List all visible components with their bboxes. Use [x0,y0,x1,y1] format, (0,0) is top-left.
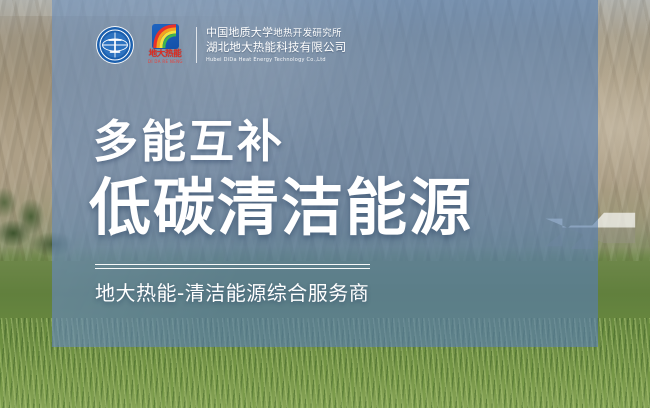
headline-divider-rule [95,264,370,269]
university-seal-icon [95,25,135,65]
headline-primary: 多能互补 [93,118,285,166]
dida-logo-pinyin: DI DA RE NENG [148,59,183,64]
org-line-company-english: Hubei DiDa Heat Energy Technology Co.,Lt… [206,56,346,64]
dida-logo-cn-text: 地大热能 [149,50,182,59]
dida-logo-mark: 地大热能 DI DA RE NENG [142,24,188,66]
rainbow-swoosh-icon [152,24,179,49]
logo-divider [196,27,197,63]
logo-bar: 地大热能 DI DA RE NENG 中国地质大学地热开发研究所 湖北地大热能科… [95,24,346,66]
org-line-university: 中国地质大学地热开发研究所 [206,26,346,40]
tagline: 地大热能-清洁能源综合服务商 [95,280,369,306]
headline-secondary: 低碳清洁能源 [89,173,473,243]
org-line-company: 湖北地大热能科技有限公司 [206,41,346,54]
organization-names: 中国地质大学地热开发研究所 湖北地大热能科技有限公司 Hubei DiDa He… [206,26,346,64]
promotional-banner: 地大热能 DI DA RE NENG 中国地质大学地热开发研究所 湖北地大热能科… [0,0,650,408]
org-university-name: 中国地质大学 [206,26,273,39]
org-institute-name: 地热开发研究所 [273,28,342,39]
